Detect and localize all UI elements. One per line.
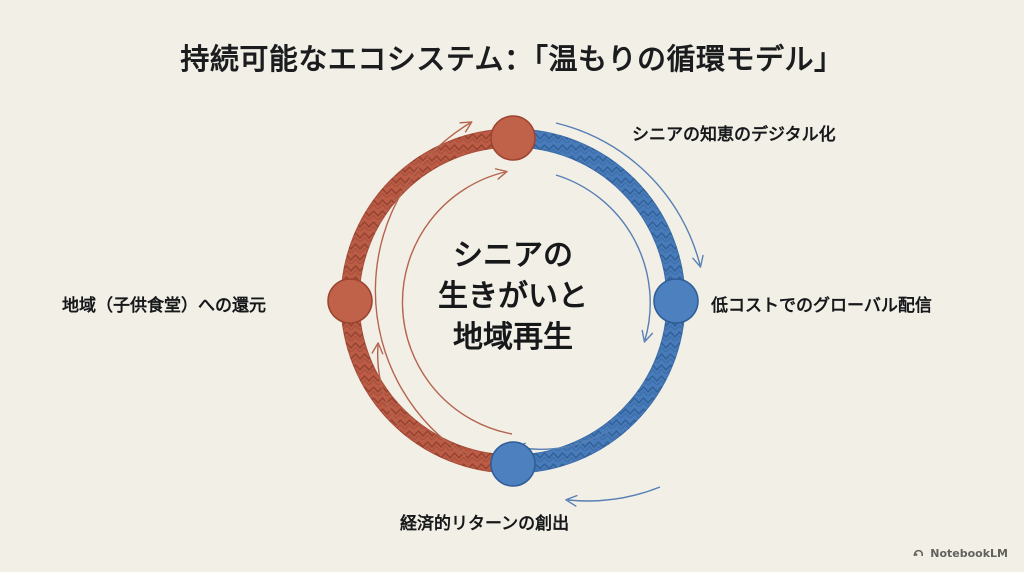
cycle-label-bottom: 経済的リターンの創出	[400, 509, 569, 534]
cycle-node-left[interactable]	[328, 279, 372, 323]
notebooklm-logo-icon	[912, 547, 925, 560]
slide-canvas: 持続可能なエコシステム：「温もりの循環モデル」	[0, 0, 1024, 572]
cycle-node-top[interactable]	[491, 116, 535, 160]
cycle-node-right[interactable]	[654, 279, 698, 323]
center-label-line-2: 生きがいと	[393, 277, 633, 318]
notebooklm-watermark-label: NotebookLM	[930, 547, 1008, 560]
center-label-line-3: 地域再生	[393, 318, 633, 359]
flow-arrow-blue-bottom	[568, 487, 660, 501]
cycle-node-bottom[interactable]	[491, 442, 535, 486]
cycle-label-right: 低コストでのグローバル配信	[711, 291, 932, 316]
cycle-label-top-right: シニアの知恵のデジタル化	[632, 120, 836, 145]
notebooklm-watermark: NotebookLM	[912, 547, 1008, 560]
center-label: シニアの 生きがいと 地域再生	[393, 236, 633, 358]
center-label-line-1: シニアの	[393, 236, 633, 277]
cycle-label-left: 地域（子供食堂）への還元	[62, 291, 266, 316]
